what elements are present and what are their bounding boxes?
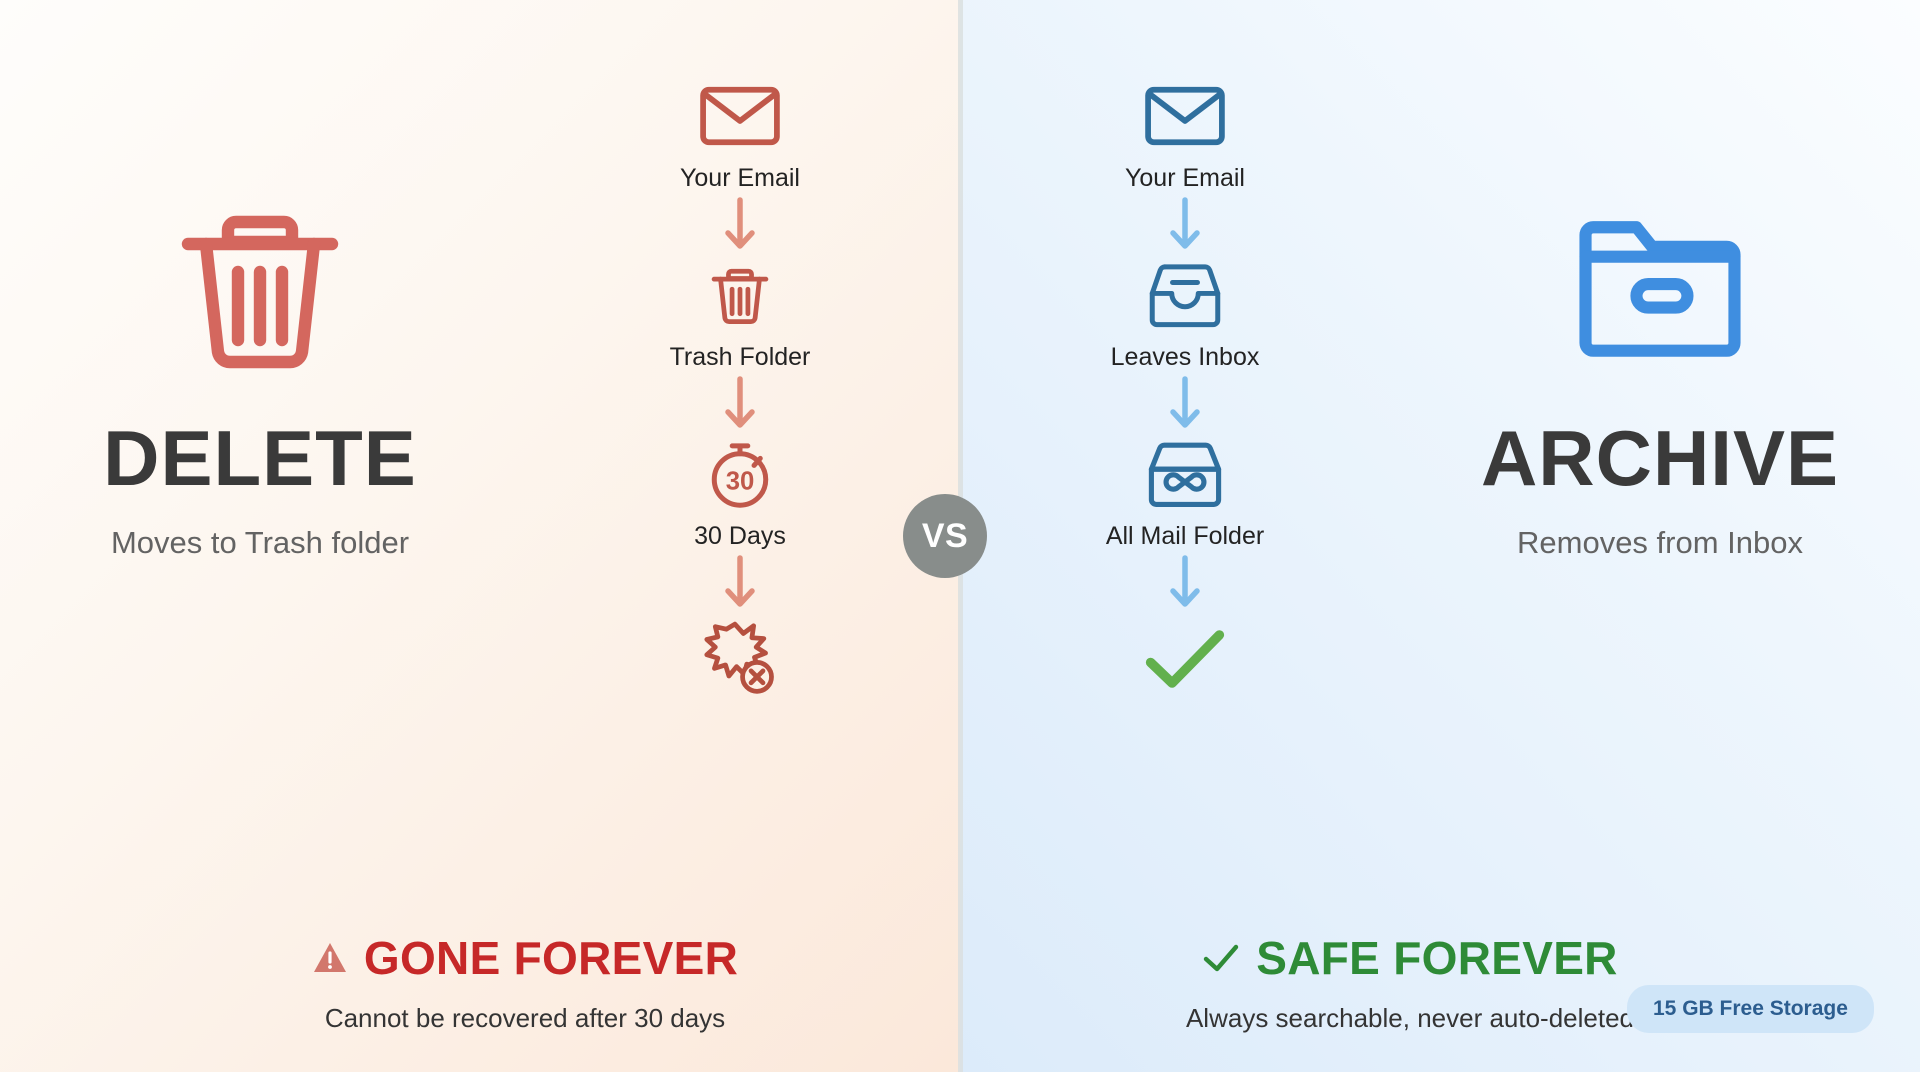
- storage-badge: 15 GB Free Storage: [1627, 985, 1874, 1033]
- warning-triangle-icon: [312, 941, 348, 975]
- flow-label: Your Email: [680, 164, 800, 193]
- archive-hero: ARCHIVE Removes from Inbox: [1445, 180, 1875, 561]
- flow-step-email: Your Email: [590, 78, 890, 193]
- verdict-note: Cannot be recovered after 30 days: [95, 1003, 955, 1034]
- flow-step-countdown: 30 30 Days: [590, 436, 890, 551]
- burst-x-icon: [590, 619, 890, 699]
- gone-forever-verdict: GONE FOREVER: [95, 935, 955, 981]
- flow-label: Leaves Inbox: [1111, 343, 1260, 372]
- verdict-label: SAFE FOREVER: [1256, 935, 1617, 981]
- delete-verdict: GONE FOREVER Cannot be recovered after 3…: [95, 935, 955, 1034]
- trash-can-icon: [704, 257, 776, 333]
- archive-title: ARCHIVE: [1445, 419, 1875, 497]
- inbox-tray-icon: [1146, 257, 1224, 333]
- check-mark-icon: [1035, 619, 1335, 699]
- envelope-icon: [1144, 78, 1226, 154]
- delete-hero: DELETE Moves to Trash folder: [45, 180, 475, 561]
- comparison-infographic: DELETE Moves to Trash folder ARCHIVE Rem…: [0, 0, 1920, 1072]
- archive-folder-icon: [1445, 180, 1875, 395]
- check-icon: [1202, 942, 1240, 974]
- vs-badge: VS: [903, 494, 987, 578]
- infinity-box-icon: [1145, 436, 1225, 512]
- flow-label: Your Email: [1125, 164, 1245, 193]
- archive-flow: Your Email Leaves Inbox: [1035, 78, 1335, 699]
- trash-can-icon: [45, 180, 475, 395]
- svg-text:30: 30: [726, 468, 755, 496]
- stopwatch-30-icon: 30: [701, 436, 779, 512]
- flow-arrow-down-icon: [590, 551, 890, 615]
- flow-step-all-mail: All Mail Folder: [1035, 436, 1335, 551]
- flow-step-trash: Trash Folder: [590, 257, 890, 372]
- flow-arrow-down-icon: [1035, 372, 1335, 436]
- flow-label: All Mail Folder: [1106, 522, 1264, 551]
- flow-arrow-down-icon: [1035, 193, 1335, 257]
- delete-title: DELETE: [45, 419, 475, 497]
- safe-forever-verdict: SAFE FOREVER: [980, 935, 1840, 981]
- flow-step-inbox: Leaves Inbox: [1035, 257, 1335, 372]
- delete-subtitle: Moves to Trash folder: [45, 525, 475, 561]
- flow-arrow-down-icon: [1035, 551, 1335, 615]
- flow-arrow-down-icon: [590, 372, 890, 436]
- envelope-icon: [699, 78, 781, 154]
- flow-step-email: Your Email: [1035, 78, 1335, 193]
- archive-subtitle: Removes from Inbox: [1445, 525, 1875, 561]
- flow-label: Trash Folder: [670, 343, 811, 372]
- flow-label: 30 Days: [694, 522, 786, 551]
- flow-arrow-down-icon: [590, 193, 890, 257]
- delete-flow: Your Email Trash Folder: [590, 78, 890, 699]
- verdict-label: GONE FOREVER: [364, 935, 738, 981]
